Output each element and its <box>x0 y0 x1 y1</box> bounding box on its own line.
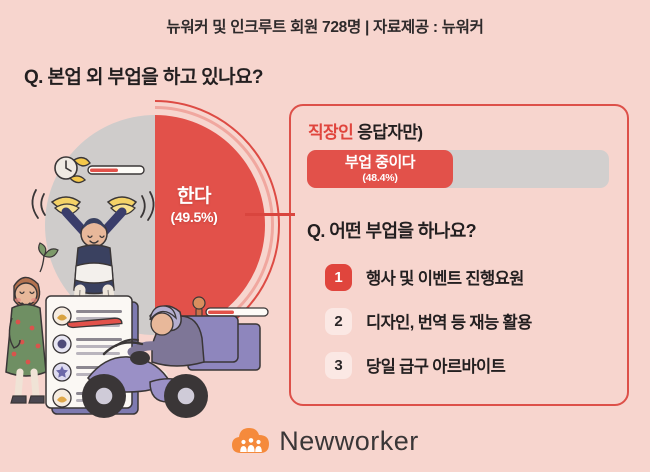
rank-badge-3: 3 <box>325 352 352 379</box>
rank-list: 1 행사 및 이벤트 진행요원 2 디자인, 번역 등 재능 활용 3 당일 급… <box>325 258 625 390</box>
infographic-canvas: 뉴워커 및 인크루트 회원 728명 | 자료제공 : 뉴워커 Q. 본업 외 … <box>0 0 650 472</box>
coin-clock-icon <box>55 157 144 183</box>
leaf-sprig <box>39 243 58 272</box>
bar-chart-fill: 부업 중이다 (48.4%) <box>307 150 453 188</box>
sub-question: Q. 어떤 부업을 하나요? <box>307 217 476 243</box>
connector-line <box>245 213 295 216</box>
rank-badge-1: 1 <box>325 264 352 291</box>
main-question: Q. 본업 외 부업을 하고 있나요? <box>24 62 263 89</box>
illustration-group <box>0 130 300 420</box>
bar-percent: (48.4%) <box>362 172 397 184</box>
header-band: 뉴워커 및 인크루트 회원 728명 | 자료제공 : 뉴워커 <box>0 0 650 52</box>
list-item: 2 디자인, 번역 등 재능 활용 <box>325 302 625 340</box>
source-line: 뉴워커 및 인크루트 회원 728명 | 자료제공 : 뉴워커 <box>166 15 483 37</box>
panel-title-highlight: 직장인 <box>308 123 353 142</box>
panel-title: 직장인 응답자만) <box>308 118 422 143</box>
rank-text-3: 당일 급구 아르바이트 <box>366 353 505 377</box>
woman-figure <box>6 277 46 403</box>
rank-text-2: 디자인, 번역 등 재능 활용 <box>366 309 532 333</box>
list-item: 1 행사 및 이벤트 진행요원 <box>325 258 625 296</box>
rank-text-1: 행사 및 이벤트 진행요원 <box>366 265 524 289</box>
bar-chart-track: 부업 중이다 (48.4%) <box>307 150 609 188</box>
brand-logo: Newworker <box>0 418 650 464</box>
list-item: 3 당일 급구 아르바이트 <box>325 346 625 384</box>
cloud-people-icon <box>231 426 271 456</box>
bar-label: 부업 중이다 <box>345 155 415 170</box>
brand-name: Newworker <box>279 426 419 457</box>
panel-title-rest: 응답자만) <box>353 123 422 142</box>
rank-badge-2: 2 <box>325 308 352 335</box>
